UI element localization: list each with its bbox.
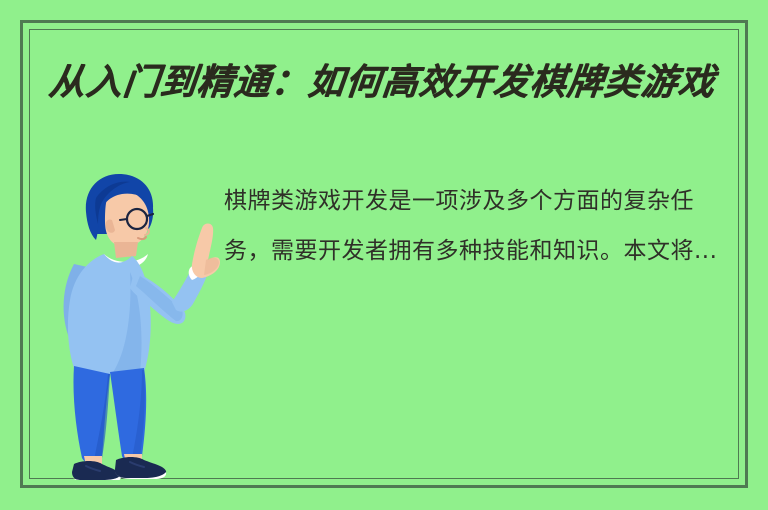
- man-pointing-up-illustration: [52, 168, 222, 480]
- article-excerpt: 棋牌类游戏开发是一项涉及多个方面的复杂任务，需要开发者拥有多种技能和知识。本文将…: [224, 176, 740, 276]
- article-cover-card: 从入门到精通：如何高效开发棋牌类游戏: [0, 0, 768, 510]
- page-title: 从入门到精通：如何高效开发棋牌类游戏: [46, 54, 742, 110]
